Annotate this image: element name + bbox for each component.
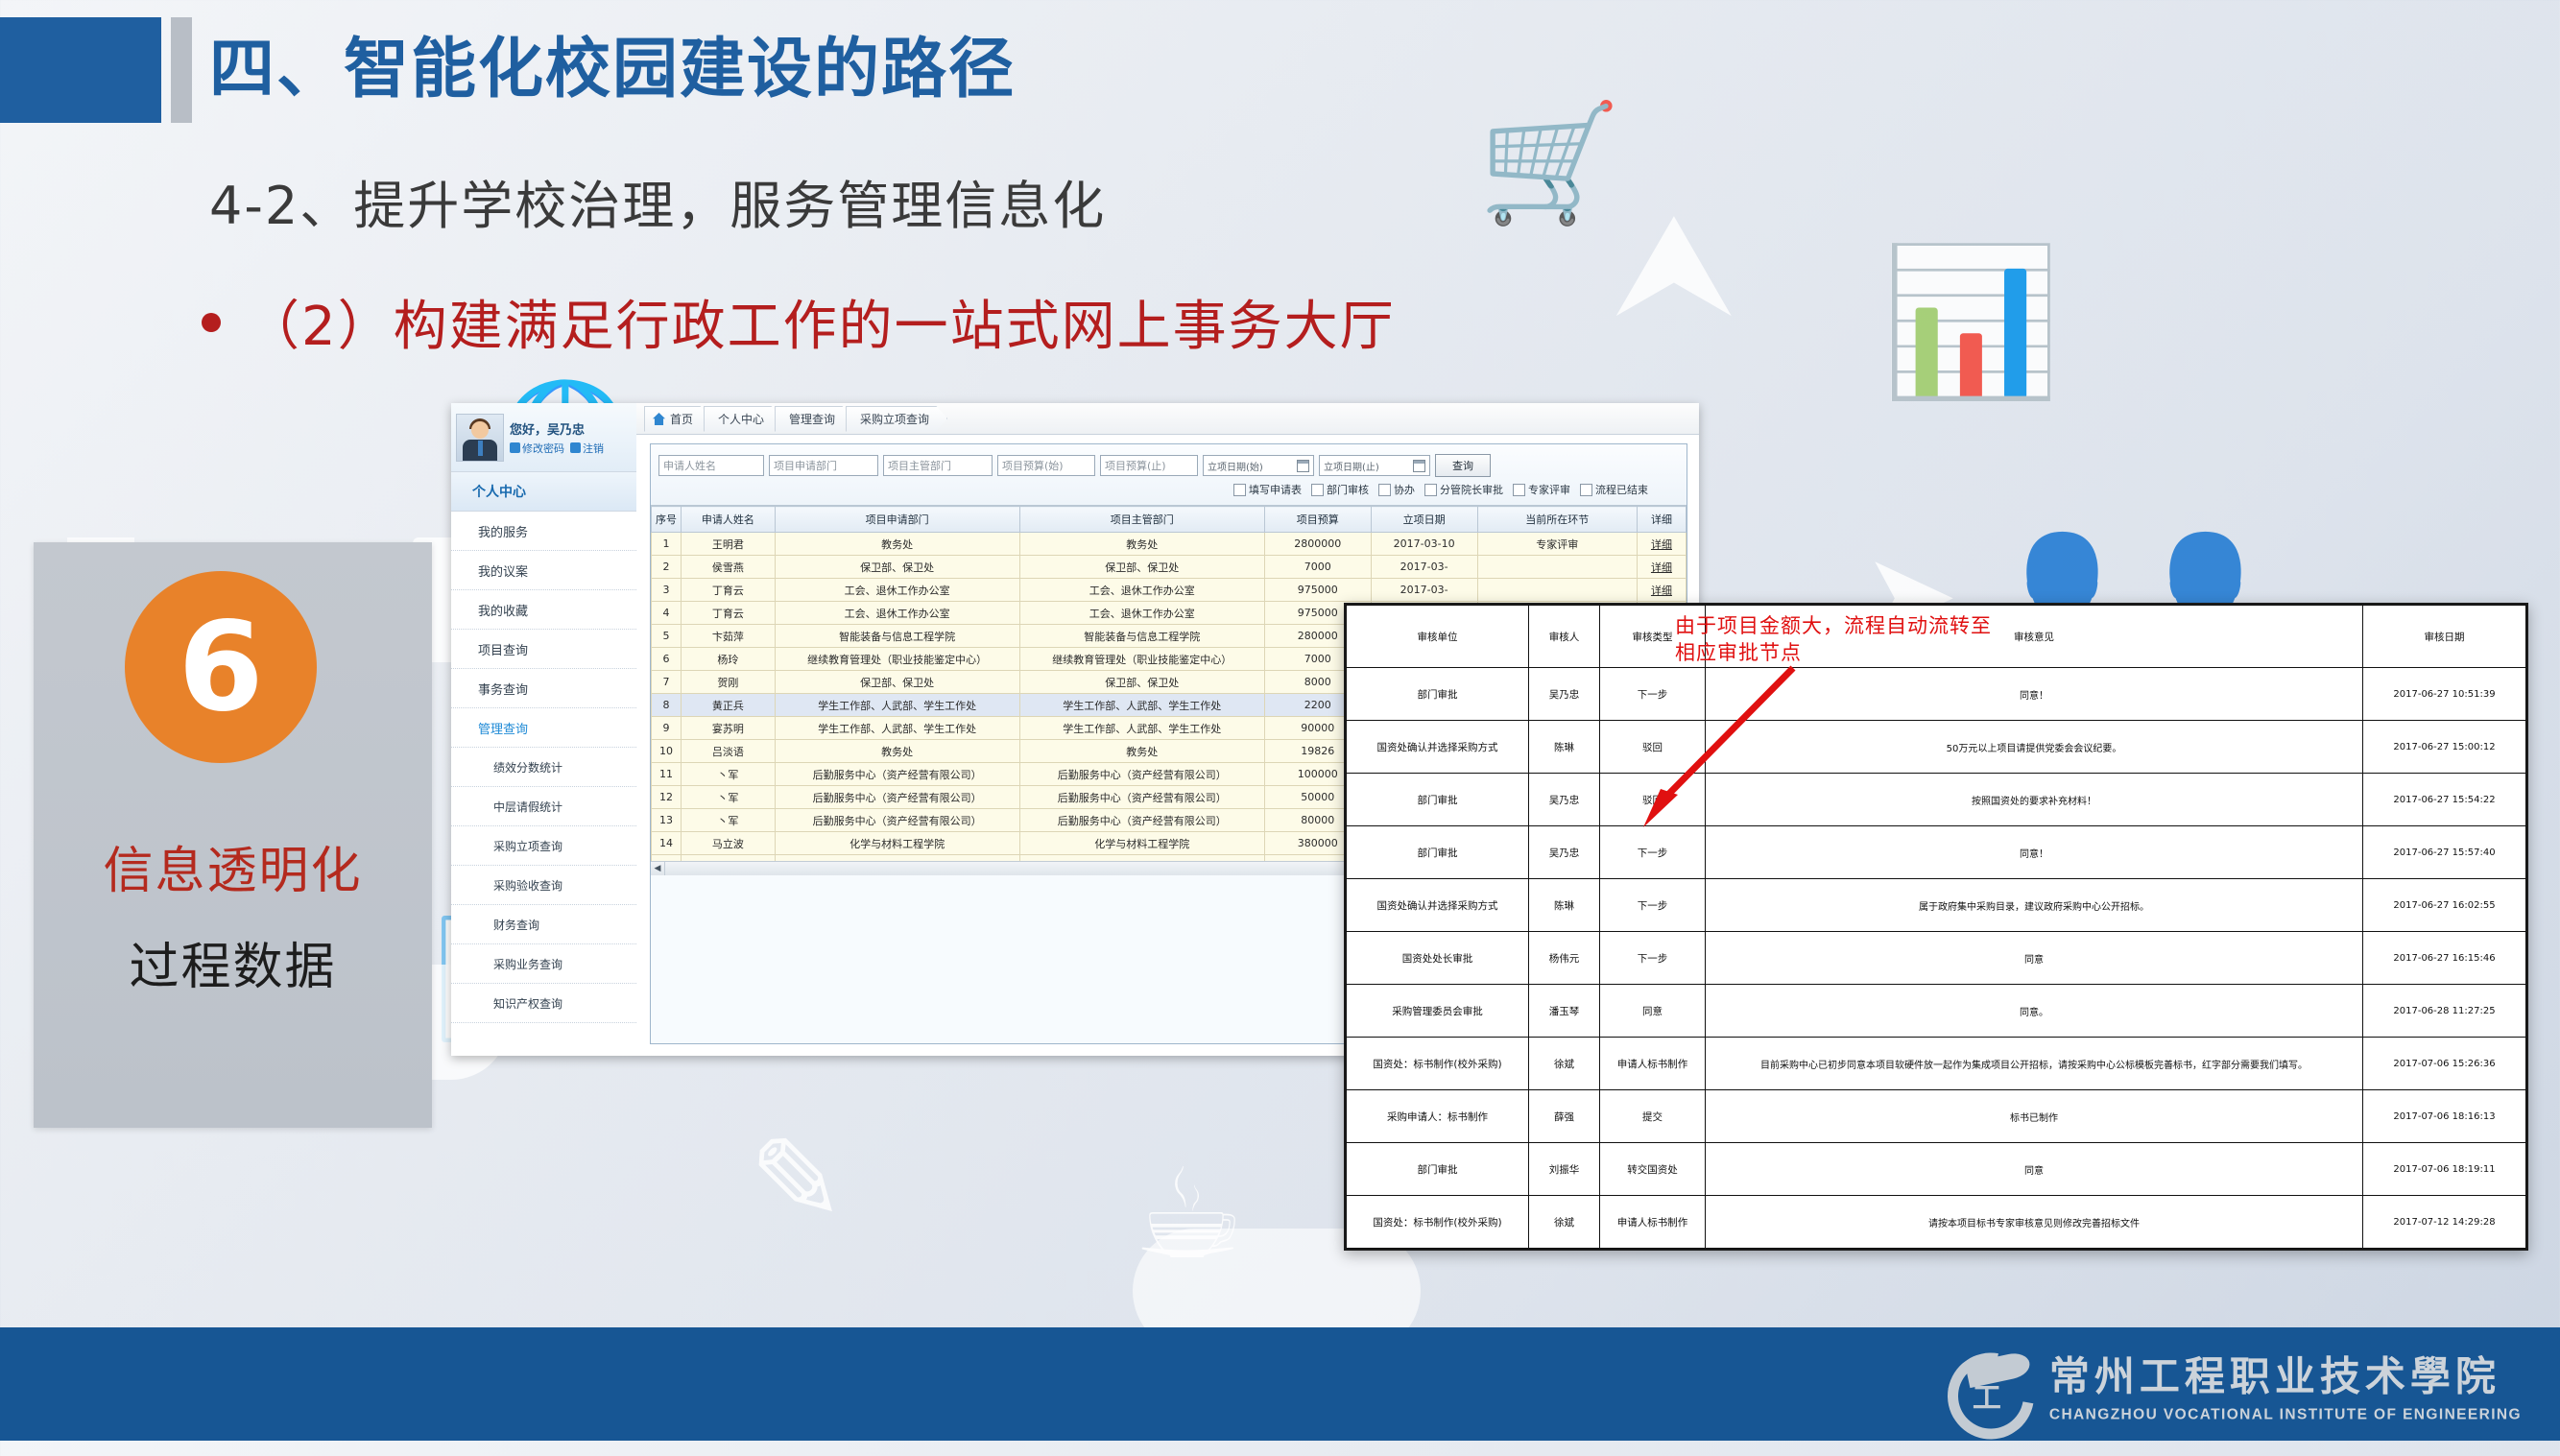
bar-chart-icon: 📊	[1881, 250, 2061, 394]
table-cell: 丶军	[682, 809, 776, 832]
user-box: 您好，吴乃忠 修改密码 注销	[451, 403, 636, 472]
budget-from-input[interactable]: 项目预算(始)	[997, 455, 1095, 476]
filters-area: 申请人姓名 项目申请部门 项目主管部门 项目预算(始) 项目预算(止) 立项日期…	[651, 444, 1687, 505]
panel-label-secondary: 过程数据	[34, 926, 432, 998]
stage-checkbox-1[interactable]: 部门审核	[1311, 482, 1369, 497]
left-callout-panel: 6 信息透明化 过程数据	[34, 542, 432, 1128]
sidebar-item-label: 我的收藏	[478, 601, 528, 619]
table-cell: 后勤服务中心（资产经营有限公司）	[1019, 809, 1264, 832]
table-cell: 黄正兵	[682, 694, 776, 717]
results-table-header-row: 序号申请人姓名项目申请部门项目主管部门项目预算立项日期当前所在环节详细	[652, 507, 1687, 533]
title-marker-block	[0, 17, 161, 123]
sidebar-item-9[interactable]: 采购验收查询	[451, 866, 636, 905]
sidebar-menu: 我的服务我的议案我的收藏项目查询事务查询管理查询绩效分数统计中层请假统计采购立项…	[451, 512, 636, 1023]
gear-icon	[510, 442, 520, 453]
audit-cell-date: 2017-07-12 14:29:28	[2363, 1196, 2526, 1249]
table-cell: 12	[652, 786, 682, 809]
column-header-5: 立项日期	[1371, 507, 1477, 533]
audit-cell-opinion: 同意。	[1706, 985, 2363, 1038]
audit-cell-person: 徐斌	[1529, 1038, 1600, 1090]
detail-link[interactable]: 详细	[1637, 579, 1686, 602]
logout-icon	[570, 442, 581, 453]
audit-cell-type: 提交	[1600, 1090, 1706, 1143]
audit-cell-unit: 部门审批	[1347, 668, 1529, 721]
table-cell: 工会、退休工作办公室	[1019, 579, 1264, 602]
audit-row: 采购申请人：标书制作薛强提交标书已制作2017-07-06 18:16:13	[1347, 1090, 2526, 1143]
audit-history-table: 审核单位审核人审核类型审核意见审核日期 部门审批吴乃忠下一步同意！2017-06…	[1346, 605, 2526, 1249]
table-cell: 6	[652, 648, 682, 671]
sidebar-item-10[interactable]: 财务查询	[451, 905, 636, 944]
table-cell: 5	[652, 625, 682, 648]
bullet-dot-icon	[202, 313, 221, 332]
audit-column-header-2: 审核类型	[1600, 606, 1706, 668]
table-cell: 14	[652, 832, 682, 855]
audit-cell-person: 刘振华	[1529, 1143, 1600, 1196]
audit-cell-unit: 部门审批	[1347, 774, 1529, 826]
checkbox-label: 专家评审	[1528, 482, 1570, 497]
table-cell: 丁育云	[682, 579, 776, 602]
audit-cell-person: 杨伟元	[1529, 932, 1600, 985]
table-cell: 3	[652, 579, 682, 602]
checkbox-label: 填写申请表	[1249, 482, 1302, 497]
sidebar-header: 个人中心	[451, 472, 636, 512]
sidebar-item-label: 我的服务	[478, 522, 528, 540]
checkbox-label: 部门审核	[1327, 482, 1369, 497]
table-cell: 2017-03-	[1371, 556, 1477, 579]
column-header-7: 详细	[1637, 507, 1686, 533]
table-cell: 学生工作部、人武部、学生工作处	[1019, 694, 1264, 717]
audit-row: 国资处确认并选择采购方式陈琳驳回50万元以上项目请提供党委会会议纪要。2017-…	[1347, 721, 2526, 774]
table-cell: 智能装备与信息工程学院	[775, 625, 1019, 648]
audit-body: 部门审批吴乃忠下一步同意！2017-06-27 10:51:39国资处确认并选择…	[1347, 668, 2526, 1249]
table-cell: 2017-03-	[1371, 579, 1477, 602]
table-cell: 教务处	[1019, 533, 1264, 556]
budget-to-input[interactable]: 项目预算(止)	[1100, 455, 1198, 476]
table-cell: 2800000	[1264, 533, 1371, 556]
detail-link[interactable]: 详细	[1637, 556, 1686, 579]
audit-cell-date: 2017-07-06 15:26:36	[2363, 1038, 2526, 1090]
audit-cell-opinion: 同意	[1706, 932, 2363, 985]
tab-label: 个人中心	[718, 413, 764, 426]
table-cell: 1	[652, 533, 682, 556]
table-cell: 后勤服务中心（资产经营有限公司）	[775, 809, 1019, 832]
audit-cell-date: 2017-06-27 15:57:40	[2363, 826, 2526, 879]
table-cell: 9	[652, 717, 682, 740]
stage-checkbox-4[interactable]: 专家评审	[1513, 482, 1570, 497]
checkbox-label: 协办	[1394, 482, 1415, 497]
table-cell: 继续教育管理处（职业技能鉴定中心）	[775, 648, 1019, 671]
table-cell: 11	[652, 763, 682, 786]
stage-checkbox-0[interactable]: 填写申请表	[1233, 482, 1302, 497]
audit-cell-type: 下一步	[1600, 826, 1706, 879]
audit-row: 国资处：标书制作(校外采购)徐斌申请人标书制作请按本项目标书专家审核意见则修改完…	[1347, 1196, 2526, 1249]
user-greeting: 您好，吴乃忠	[510, 419, 604, 438]
audit-row: 部门审批刘振华转交国资处同意2017-07-06 18:19:11	[1347, 1143, 2526, 1196]
audit-cell-date: 2017-06-27 16:15:46	[2363, 932, 2526, 985]
checkbox-icon[interactable]	[1424, 484, 1437, 496]
table-cell: 吕淡语	[682, 740, 776, 763]
table-cell: 智能装备与信息工程学院	[1019, 625, 1264, 648]
column-header-4: 项目预算	[1264, 507, 1371, 533]
table-cell: 丁育云	[682, 602, 776, 625]
app-sidebar: 您好，吴乃忠 修改密码 注销 个人中心 我的服务我的议案我的收藏项目查询事务查询…	[451, 403, 637, 1056]
column-header-3: 项目主管部门	[1019, 507, 1264, 533]
stage-checkbox-3[interactable]: 分管院长审批	[1424, 482, 1503, 497]
sidebar-item-label: 采购业务查询	[493, 956, 562, 972]
institute-name-cn: 常州工程职业技术學院	[2049, 1345, 2522, 1403]
column-header-6: 当前所在环节	[1477, 507, 1637, 533]
audit-history-table-panel: 审核单位审核人审核类型审核意见审核日期 部门审批吴乃忠下一步同意！2017-06…	[1344, 603, 2528, 1251]
column-header-0: 序号	[652, 507, 682, 533]
audit-column-header-0: 审核单位	[1347, 606, 1529, 668]
date-from-input[interactable]: 立项日期(始)	[1203, 455, 1314, 476]
table-cell: 后勤服务中心（资产经营有限公司）	[1019, 786, 1264, 809]
audit-cell-opinion: 属于政府集中采购目录，建议政府采购中心公开招标。	[1706, 879, 2363, 932]
audit-cell-opinion: 目前采购中心已初步同意本项目软硬件放一起作为集成项目公开招标，请按采购中心公标模…	[1706, 1038, 2363, 1090]
sidebar-item-7[interactable]: 中层请假统计	[451, 787, 636, 826]
audit-cell-unit: 国资处确认并选择采购方式	[1347, 721, 1529, 774]
audit-cell-person: 陈琳	[1529, 879, 1600, 932]
audit-cell-date: 2017-07-06 18:16:13	[2363, 1090, 2526, 1143]
sidebar-item-label: 采购验收查询	[493, 877, 562, 894]
tab-2[interactable]: 管理查询	[775, 406, 853, 432]
tab-0[interactable]: 首页	[644, 406, 711, 432]
table-cell: 10	[652, 740, 682, 763]
audit-cell-date: 2017-07-06 18:19:11	[2363, 1143, 2526, 1196]
table-cell: 2017-03-10	[1371, 533, 1477, 556]
table-cell: 学生工作部、人武部、学生工作处	[775, 694, 1019, 717]
tab-1[interactable]: 个人中心	[704, 406, 782, 432]
sidebar-item-label: 我的议案	[478, 561, 528, 580]
tab-label: 采购立项查询	[860, 413, 929, 426]
manage-dept-input[interactable]: 项目主管部门	[883, 455, 993, 476]
table-cell: 工会、退休工作办公室	[1019, 602, 1264, 625]
sidebar-item-11[interactable]: 采购业务查询	[451, 944, 636, 984]
table-cell: 4	[652, 602, 682, 625]
shopping-cart-icon: 🛒	[1478, 106, 1621, 221]
column-header-2: 项目申请部门	[775, 507, 1019, 533]
table-cell: 保卫部、保卫处	[1019, 671, 1264, 694]
panel-label-primary: 信息透明化	[34, 830, 432, 902]
stage-checkbox-2[interactable]: 协办	[1378, 482, 1415, 497]
sidebar-item-3[interactable]: 项目查询	[451, 630, 636, 669]
audit-column-header-4: 审核日期	[2363, 606, 2526, 668]
sidebar-item-label: 管理查询	[478, 719, 528, 737]
audit-cell-person: 陈琳	[1529, 721, 1600, 774]
audit-cell-date: 2017-06-28 11:27:25	[2363, 985, 2526, 1038]
audit-cell-type: 转交国资处	[1600, 1143, 1706, 1196]
audit-cell-unit: 部门审批	[1347, 826, 1529, 879]
table-cell: 继续教育管理处（职业技能鉴定中心）	[1019, 648, 1264, 671]
table-cell: 王明君	[682, 533, 776, 556]
scroll-left-arrow[interactable]: ◀	[651, 862, 665, 875]
audit-cell-type: 申请人标书制作	[1600, 1038, 1706, 1090]
audit-cell-person: 吴乃忠	[1529, 826, 1600, 879]
detail-link[interactable]: 详细	[1637, 533, 1686, 556]
checkbox-icon[interactable]	[1311, 484, 1324, 496]
table-cell: 教务处	[775, 533, 1019, 556]
audit-cell-opinion: 标书已制作	[1706, 1090, 2363, 1143]
audit-cell-unit: 采购管理委员会审批	[1347, 985, 1529, 1038]
apply-dept-input[interactable]: 项目申请部门	[769, 455, 878, 476]
audit-cell-type: 驳回	[1600, 774, 1706, 826]
audit-row: 部门审批吴乃忠下一步同意！2017-06-27 10:51:39	[1347, 668, 2526, 721]
tab-3[interactable]: 采购立项查询	[846, 406, 947, 432]
audit-row: 采购管理委员会审批潘玉琴同意同意。2017-06-28 11:27:25	[1347, 985, 2526, 1038]
arrow-up-icon: ⮝	[1613, 192, 1735, 336]
bullet-line: （2）构建满足行政工作的一站式网上事务大厅	[202, 283, 1396, 361]
audit-cell-opinion: 同意	[1706, 1143, 2363, 1196]
tab-label: 首页	[670, 407, 693, 432]
table-cell: 学生工作部、人武部、学生工作处	[775, 717, 1019, 740]
table-cell: 保卫部、保卫处	[1019, 556, 1264, 579]
checkbox-icon[interactable]	[1513, 484, 1525, 496]
table-cell: 化学与材料工程学院	[1019, 832, 1264, 855]
table-cell: 教务处	[1019, 740, 1264, 763]
audit-cell-person: 吴乃忠	[1529, 668, 1600, 721]
column-header-1: 申请人姓名	[682, 507, 776, 533]
table-row[interactable]: 2侯雪燕保卫部、保卫处保卫部、保卫处70002017-03-详细	[652, 556, 1687, 579]
sidebar-item-label: 绩效分数统计	[493, 759, 562, 776]
audit-cell-date: 2017-06-27 15:54:22	[2363, 774, 2526, 826]
pencil-icon: ✎	[749, 1123, 846, 1238]
step-number-badge: 6	[125, 571, 317, 763]
audit-cell-type: 驳回	[1600, 721, 1706, 774]
audit-row: 部门审批吴乃忠驳回按照国资处的要求补充材料！2017-06-27 15:54:2…	[1347, 774, 2526, 826]
change-password-link[interactable]: 修改密码	[510, 441, 564, 456]
sidebar-item-1[interactable]: 我的议案	[451, 551, 636, 590]
audit-cell-unit: 国资处：标书制作(校外采购)	[1347, 1038, 1529, 1090]
sidebar-item-6[interactable]: 绩效分数统计	[451, 748, 636, 787]
table-cell	[1477, 556, 1637, 579]
applicant-input[interactable]: 申请人姓名	[658, 455, 764, 476]
stage-checkbox-group: 填写申请表部门审核协办分管院长审批专家评审流程已结束	[658, 477, 1679, 501]
audit-cell-unit: 国资处确认并选择采购方式	[1347, 879, 1529, 932]
table-cell: 学生工作部、人武部、学生工作处	[1019, 717, 1264, 740]
audit-cell-person: 徐斌	[1529, 1196, 1600, 1249]
checkbox-label: 分管院长审批	[1440, 482, 1503, 497]
audit-header-row: 审核单位审核人审核类型审核意见审核日期	[1347, 606, 2526, 668]
sidebar-item-5[interactable]: 管理查询	[451, 708, 636, 748]
table-cell: 宴苏明	[682, 717, 776, 740]
footer-bar: 工 常州工程职业技术學院 CHANGZHOU VOCATIONAL INSTIT…	[0, 1327, 2560, 1441]
audit-cell-opinion: 按照国资处的要求补充材料！	[1706, 774, 2363, 826]
sidebar-item-label: 采购立项查询	[493, 838, 562, 854]
audit-cell-person: 吴乃忠	[1529, 774, 1600, 826]
sidebar-item-label: 项目查询	[478, 640, 528, 658]
breadcrumb: 首页个人中心管理查询采购立项查询	[636, 403, 1699, 435]
table-cell: 保卫部、保卫处	[775, 556, 1019, 579]
table-cell: 侯雪燕	[682, 556, 776, 579]
table-cell: 13	[652, 809, 682, 832]
sidebar-item-4[interactable]: 事务查询	[451, 669, 636, 708]
table-row[interactable]: 1王明君教务处教务处28000002017-03-10专家评审详细	[652, 533, 1687, 556]
checkbox-icon[interactable]	[1233, 484, 1246, 496]
avatar	[456, 414, 504, 462]
audit-cell-opinion: 请按本项目标书专家审核意见则修改完善招标文件	[1706, 1196, 2363, 1249]
logout-link[interactable]: 注销	[570, 441, 604, 456]
bullet-text: （2）构建满足行政工作的一站式网上事务大厅	[246, 283, 1396, 361]
audit-cell-opinion: 同意！	[1706, 668, 2363, 721]
table-cell: 保卫部、保卫处	[775, 671, 1019, 694]
audit-cell-opinion: 同意！	[1706, 826, 2363, 879]
table-cell: 7	[652, 671, 682, 694]
audit-row: 国资处：标书制作(校外采购)徐斌申请人标书制作目前采购中心已初步同意本项目软硬件…	[1347, 1038, 2526, 1090]
table-cell: 贺刚	[682, 671, 776, 694]
audit-cell-date: 2017-06-27 10:51:39	[2363, 668, 2526, 721]
audit-cell-type: 下一步	[1600, 932, 1706, 985]
table-cell: 后勤服务中心（资产经营有限公司）	[775, 786, 1019, 809]
sidebar-item-label: 知识产权查询	[493, 995, 562, 1012]
table-row[interactable]: 3丁育云工会、退休工作办公室工会、退休工作办公室9750002017-03-详细	[652, 579, 1687, 602]
institute-name-en: CHANGZHOU VOCATIONAL INSTITUTE OF ENGINE…	[2049, 1407, 2522, 1424]
audit-cell-unit: 国资处处长审批	[1347, 932, 1529, 985]
page-title: 四、智能化校园建设的路径	[209, 15, 1016, 110]
checkbox-label: 流程已结束	[1595, 482, 1648, 497]
audit-cell-opinion: 50万元以上项目请提供党委会会议纪要。	[1706, 721, 2363, 774]
table-cell: 8	[652, 694, 682, 717]
table-cell: 杨玲	[682, 648, 776, 671]
audit-cell-unit: 采购申请人：标书制作	[1347, 1090, 1529, 1143]
sidebar-item-label: 中层请假统计	[493, 799, 562, 815]
query-button[interactable]: 查询	[1435, 454, 1491, 477]
calendar-icon[interactable]	[1413, 460, 1425, 472]
table-cell: 化学与材料工程学院	[775, 832, 1019, 855]
table-cell: 975000	[1264, 579, 1371, 602]
audit-column-header-1: 审核人	[1529, 606, 1600, 668]
table-cell: 7000	[1264, 556, 1371, 579]
audit-cell-unit: 国资处：标书制作(校外采购)	[1347, 1196, 1529, 1249]
sidebar-item-0[interactable]: 我的服务	[451, 512, 636, 551]
sidebar-item-label: 财务查询	[493, 917, 539, 933]
audit-row: 国资处处长审批杨伟元下一步同意2017-06-27 16:15:46	[1347, 932, 2526, 985]
audit-row: 部门审批吴乃忠下一步同意！2017-06-27 15:57:40	[1347, 826, 2526, 879]
sidebar-item-2[interactable]: 我的收藏	[451, 590, 636, 630]
checkbox-icon[interactable]	[1580, 484, 1592, 496]
table-cell	[1477, 579, 1637, 602]
table-cell: 后勤服务中心（资产经营有限公司）	[775, 763, 1019, 786]
table-cell: 后勤服务中心（资产经营有限公司）	[1019, 763, 1264, 786]
table-cell: 工会、退休工作办公室	[775, 579, 1019, 602]
home-icon	[653, 413, 665, 425]
table-cell: 卞茹萍	[682, 625, 776, 648]
table-cell: 2	[652, 556, 682, 579]
audit-column-header-3: 审核意见	[1706, 606, 2363, 668]
table-cell: 教务处	[775, 740, 1019, 763]
audit-cell-date: 2017-06-27 15:00:12	[2363, 721, 2526, 774]
coffee-cup-icon: ☕	[1133, 1152, 1245, 1277]
audit-cell-person: 薛强	[1529, 1090, 1600, 1143]
calendar-icon[interactable]	[1297, 460, 1309, 472]
sidebar-item-label: 事务查询	[478, 680, 528, 698]
table-cell: 马立波	[682, 832, 776, 855]
audit-cell-type: 申请人标书制作	[1600, 1196, 1706, 1249]
tab-label: 管理查询	[789, 413, 835, 426]
audit-cell-type: 同意	[1600, 985, 1706, 1038]
table-cell: 丶军	[682, 786, 776, 809]
table-cell: 工会、退休工作办公室	[775, 602, 1019, 625]
audit-cell-type: 下一步	[1600, 668, 1706, 721]
audit-cell-date: 2017-06-27 16:02:55	[2363, 879, 2526, 932]
audit-cell-person: 潘玉琴	[1529, 985, 1600, 1038]
table-cell: 丶军	[682, 763, 776, 786]
audit-cell-unit: 部门审批	[1347, 1143, 1529, 1196]
title-marker-bar	[171, 17, 192, 123]
table-cell: 专家评审	[1477, 533, 1637, 556]
stage-checkbox-5[interactable]: 流程已结束	[1580, 482, 1648, 497]
date-to-input[interactable]: 立项日期(止)	[1319, 455, 1430, 476]
page-subtitle: 4-2、提升学校治理，服务管理信息化	[209, 163, 1106, 239]
sidebar-item-8[interactable]: 采购立项查询	[451, 826, 636, 866]
checkbox-icon[interactable]	[1378, 484, 1391, 496]
audit-cell-type: 下一步	[1600, 879, 1706, 932]
sidebar-item-12[interactable]: 知识产权查询	[451, 984, 636, 1023]
audit-row: 国资处确认并选择采购方式陈琳下一步属于政府集中采购目录，建议政府采购中心公开招标…	[1347, 879, 2526, 932]
institute-logo-icon: 工	[1944, 1347, 2032, 1421]
